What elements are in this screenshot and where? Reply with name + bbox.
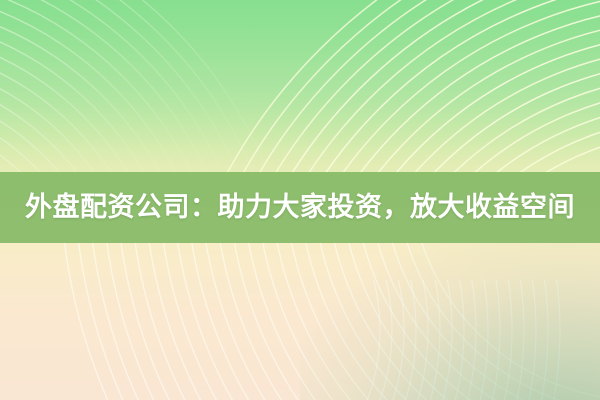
headline-text: 外盘配资公司：助力大家投资，放大收益空间 [25, 194, 575, 221]
promo-banner: 外盘配资公司：助力大家投资，放大收益空间 [0, 0, 600, 400]
bottom-right-green-wash [300, 240, 600, 400]
headline-band: 外盘配资公司：助力大家投资，放大收益空间 [0, 172, 600, 243]
top-green-wash [0, 0, 600, 150]
